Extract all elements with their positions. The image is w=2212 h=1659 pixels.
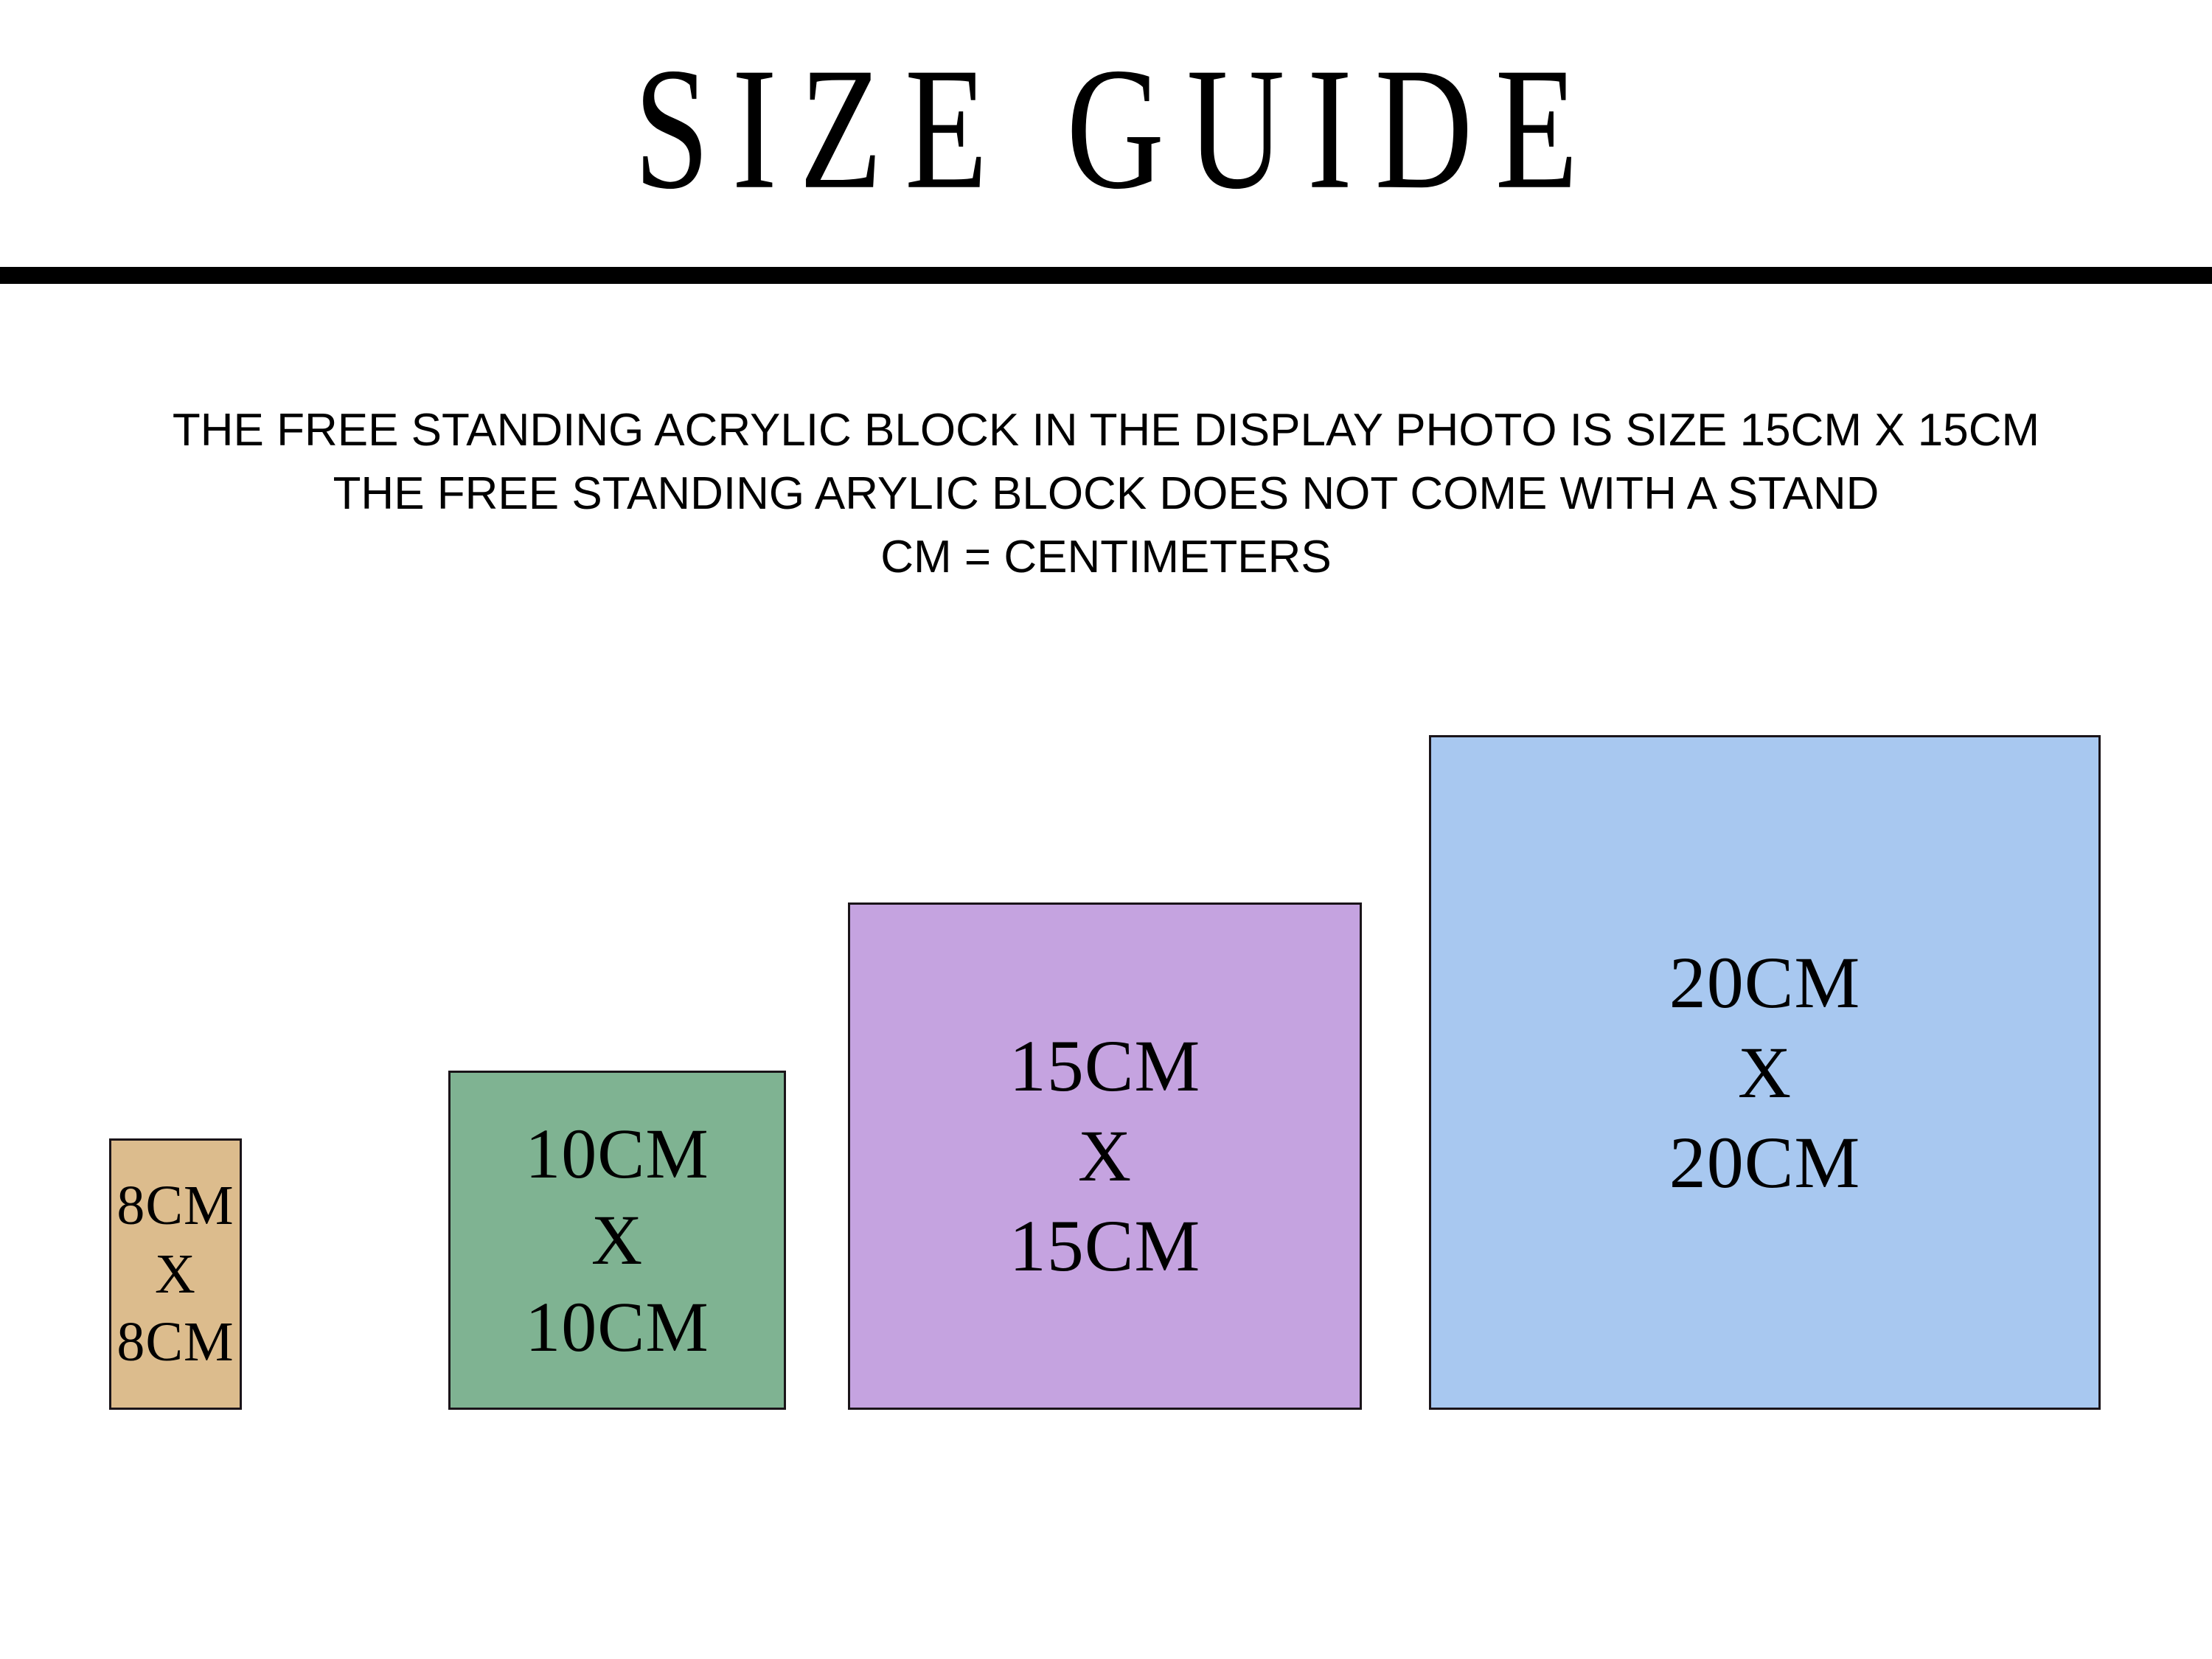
size-square-20cm: 20CM X 20CM [1429, 735, 2101, 1410]
size-square-10cm-height-label: 10CM [525, 1284, 709, 1370]
size-square-10cm-width-label: 10CM [525, 1110, 709, 1197]
size-comparison-chart: 8CM X 8CM 10CM X 10CM 15CM X 15CM 20CM X… [0, 0, 2212, 1659]
size-square-8cm: 8CM X 8CM [109, 1138, 242, 1410]
size-square-10cm: 10CM X 10CM [448, 1071, 786, 1410]
size-square-15cm-separator: X [1078, 1111, 1132, 1201]
size-square-10cm-separator: X [591, 1197, 643, 1283]
size-square-8cm-separator: X [155, 1240, 196, 1309]
size-square-15cm: 15CM X 15CM [848, 902, 1362, 1410]
size-square-15cm-width-label: 15CM [1009, 1021, 1201, 1111]
size-square-15cm-height-label: 15CM [1009, 1201, 1201, 1291]
size-square-8cm-width-label: 8CM [116, 1172, 234, 1240]
size-square-8cm-height-label: 8CM [116, 1308, 234, 1377]
size-square-20cm-height-label: 20CM [1669, 1118, 1861, 1208]
size-square-20cm-separator: X [1738, 1028, 1792, 1118]
size-square-20cm-width-label: 20CM [1669, 938, 1861, 1028]
